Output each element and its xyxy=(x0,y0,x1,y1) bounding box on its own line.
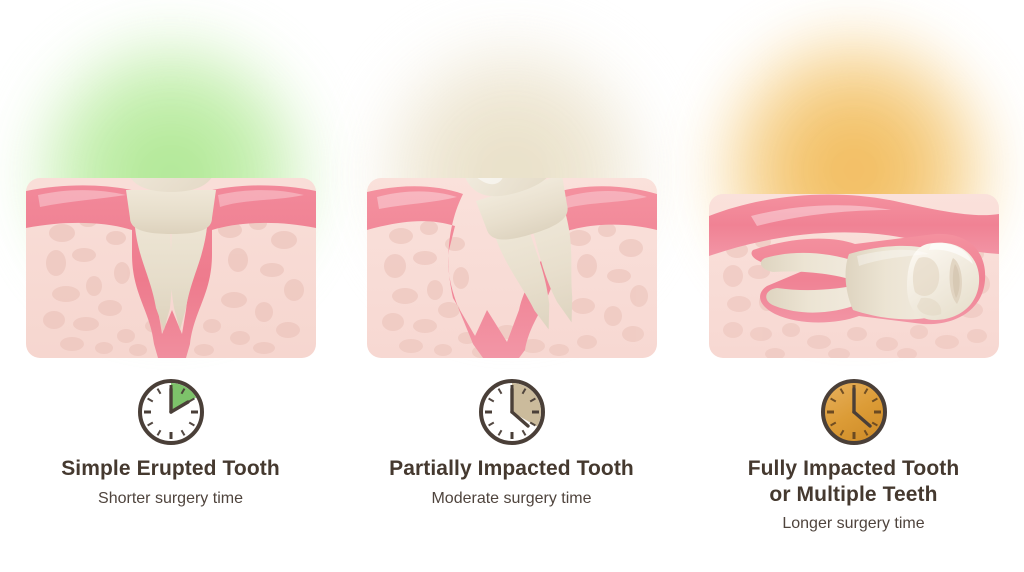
infographic-board: Simple Erupted Tooth Shorter surgery tim… xyxy=(0,0,1024,572)
fully-impacted-molar-diagram xyxy=(709,58,999,358)
caption-simple-erupted: Simple Erupted Tooth Shorter surgery tim… xyxy=(0,456,341,510)
caption-partially-impacted: Partially Impacted Tooth Moderate surger… xyxy=(341,456,682,510)
panel-subtitle: Longer surgery time xyxy=(701,514,1006,535)
panel-title: Partially Impacted Tooth xyxy=(359,456,664,482)
clock-icon-moderate xyxy=(476,376,548,448)
panel-subtitle: Moderate surgery time xyxy=(359,489,664,510)
panel-title: Simple Erupted Tooth xyxy=(18,456,323,482)
panel-subtitle: Shorter surgery time xyxy=(18,489,323,510)
panel-title-line-2: or Multiple Teeth xyxy=(769,483,937,506)
panel-partially-impacted: Partially Impacted Tooth Moderate surger… xyxy=(341,0,682,572)
panel-title-line-1: Fully Impacted Tooth xyxy=(748,457,960,480)
caption-fully-impacted: Fully Impacted Tooth or Multiple Teeth L… xyxy=(683,456,1024,535)
panel-simple-erupted: Simple Erupted Tooth Shorter surgery tim… xyxy=(0,0,341,572)
erupted-molar-diagram xyxy=(26,58,316,358)
partially-impacted-molar-diagram xyxy=(367,58,657,358)
panel-title: Fully Impacted Tooth or Multiple Teeth xyxy=(701,456,1006,508)
clock-icon-long xyxy=(818,376,890,448)
clock-icon-short xyxy=(135,376,207,448)
panel-fully-impacted: Fully Impacted Tooth or Multiple Teeth L… xyxy=(683,0,1024,572)
